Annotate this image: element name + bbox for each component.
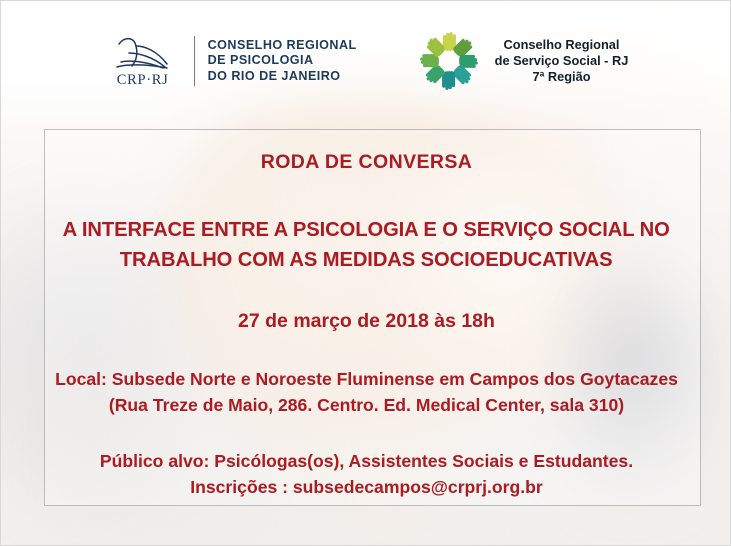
event-registration-line: Inscrições : subsedecampos@crprj.org.br xyxy=(100,474,633,500)
crp-abbreviation: CRP·RJ xyxy=(117,72,169,89)
poster-content: RODA DE CONVERSA A INTERFACE ENTRE A PSI… xyxy=(1,129,731,506)
crp-rj-logo: CRP·RJ CONSELHO REGIONAL DE PSICOLOGIA D… xyxy=(105,34,357,89)
event-location: Local: Subsede Norte e Noroeste Fluminen… xyxy=(55,366,678,418)
event-audience-and-registration: Público alvo: Psicólogas(os), Assistente… xyxy=(100,448,633,500)
crp-wordmark-line-2: DE PSICOLOGIA xyxy=(208,53,357,69)
crp-bird-wing-icon: CRP·RJ xyxy=(105,34,181,89)
event-title-line-2: TRABALHO COM AS MEDIDAS SOCIOEDUCATIVAS xyxy=(63,245,670,275)
cress-wordmark-line-1: Conselho Regional xyxy=(495,37,629,53)
event-title: A INTERFACE ENTRE A PSICOLOGIA E O SERVI… xyxy=(63,215,670,275)
cress-wordmark: Conselho Regional de Serviço Social - RJ… xyxy=(495,37,629,84)
cress-wordmark-line-2: de Serviço Social - RJ xyxy=(495,53,629,69)
crp-wordmark-line-1: CONSELHO REGIONAL xyxy=(208,38,357,54)
event-title-line-1: A INTERFACE ENTRE A PSICOLOGIA E O SERVI… xyxy=(63,215,670,245)
event-audience-line: Público alvo: Psicólogas(os), Assistente… xyxy=(100,448,633,474)
event-kicker: RODA DE CONVERSA xyxy=(261,151,473,174)
event-poster: CRP·RJ CONSELHO REGIONAL DE PSICOLOGIA D… xyxy=(0,0,731,546)
cress-rj-logo: Conselho Regional de Serviço Social - RJ… xyxy=(415,27,629,95)
circle-of-hands-icon xyxy=(415,27,483,95)
crp-wordmark: CONSELHO REGIONAL DE PSICOLOGIA DO RIO D… xyxy=(208,38,357,85)
crp-wordmark-line-3: DO RIO DE JANEIRO xyxy=(208,69,357,85)
event-datetime: 27 de março de 2018 às 18h xyxy=(238,310,495,333)
cress-wordmark-line-3: 7ª Região xyxy=(495,69,629,85)
logo-header: CRP·RJ CONSELHO REGIONAL DE PSICOLOGIA D… xyxy=(1,1,731,121)
event-location-line-1: Local: Subsede Norte e Noroeste Fluminen… xyxy=(55,366,678,392)
event-location-line-2: (Rua Treze de Maio, 286. Centro. Ed. Med… xyxy=(55,392,678,418)
crp-divider-rule xyxy=(194,36,195,86)
